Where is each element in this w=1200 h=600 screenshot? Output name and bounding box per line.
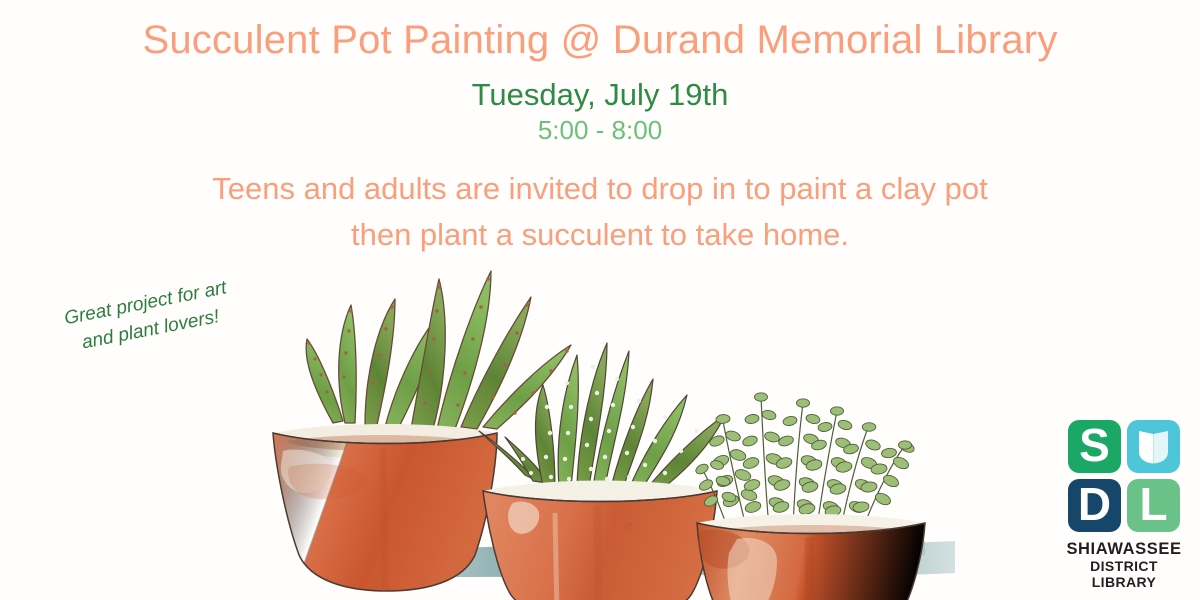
logo-s-tile: S — [1068, 420, 1121, 473]
logo-l-tile: L — [1127, 479, 1180, 532]
logo-d-tile: D — [1068, 479, 1121, 532]
right-pot-fern — [694, 393, 925, 600]
page-title: Succulent Pot Painting @ Durand Memorial… — [0, 18, 1200, 62]
event-time: 5:00 - 8:00 — [0, 116, 1200, 145]
event-date: Tuesday, July 19th — [0, 78, 1200, 112]
description-line-1: Teens and adults are invited to drop in … — [90, 166, 1110, 212]
shiawassee-district-library-logo[interactable]: S D L SHIAWASSEE DISTRICT LIBRARY — [1060, 420, 1188, 590]
logo-book-tile — [1127, 420, 1180, 473]
flyer-canvas: Succulent Pot Painting @ Durand Memorial… — [0, 0, 1200, 600]
center-pot-sansevieria — [479, 343, 725, 600]
logo-tile-grid: S D L — [1068, 420, 1180, 532]
logo-wordmark: SHIAWASSEE DISTRICT LIBRARY — [1060, 540, 1188, 590]
open-book-icon — [1136, 428, 1171, 465]
logo-wordmark-line-2: DISTRICT LIBRARY — [1060, 558, 1188, 590]
event-description: Teens and adults are invited to drop in … — [90, 166, 1110, 258]
description-line-2: then plant a succulent to take home. — [90, 212, 1110, 258]
succulent-illustration — [225, 255, 955, 600]
logo-wordmark-line-1: SHIAWASSEE — [1060, 540, 1188, 558]
